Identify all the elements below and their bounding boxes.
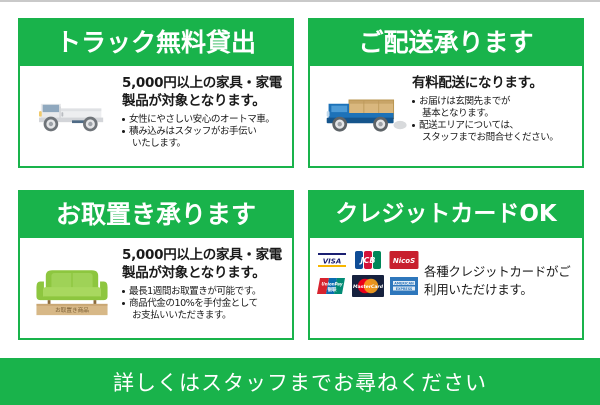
- banner-text: 詳しくはスタッフまでお尋ねください: [113, 367, 487, 397]
- panel-credit-card: クレジットカードOK VISA: [308, 190, 584, 340]
- panel-title: ご配送承ります: [358, 30, 533, 55]
- blue-cargo-truck-icon: [314, 71, 410, 139]
- svg-text:NicoS: NicoS: [393, 257, 415, 265]
- green-sofa-icon: お取置き商品: [24, 243, 120, 317]
- bullet-item: 積み込みはスタッフがお手伝い いたします。: [122, 126, 288, 149]
- panel-title: お取置き承ります: [56, 202, 256, 227]
- panel-layaway: お取置き承ります お取: [18, 190, 294, 340]
- panel-title: クレジットカードOK: [335, 203, 556, 226]
- card-logo-grid: VISA JCB: [316, 249, 420, 297]
- svg-text:EXPRESS: EXPRESS: [396, 287, 413, 291]
- panel-text-credit-card: 各種クレジットカードがご利用いただけます。: [422, 243, 578, 299]
- panel-text-truck-rental: 5,000円以上の家具・家電製品が対象となります。 女性にやさしい安心のオートマ…: [120, 71, 288, 150]
- unionpay-logo: UnionPay 银联: [316, 275, 348, 297]
- panel-text-layaway: 5,000円以上の家具・家電製品が対象となります。 最長1週間お取置きが可能です…: [120, 243, 288, 322]
- panel-lead: 有料配送になります。: [412, 75, 578, 93]
- svg-text:AMERICAN: AMERICAN: [394, 281, 414, 285]
- panel-body-truck-rental: 5,000円以上の家具・家電製品が対象となります。 女性にやさしい安心のオートマ…: [18, 66, 294, 168]
- jcb-logo: JCB: [352, 249, 384, 271]
- mastercard-logo: MasterCard: [352, 275, 384, 297]
- bullet-item: 配送エリアについては、 スタッフまでお問合せください。: [412, 120, 578, 143]
- svg-text:VISA: VISA: [323, 258, 341, 266]
- bullet-item: 最長1週間お取置きが可能です。: [122, 286, 288, 298]
- panel-bullets: 最長1週間お取置きが可能です。 商品代金の10%を手付金として お支払いいただき…: [122, 286, 288, 322]
- panel-delivery: ご配送承ります: [308, 18, 584, 168]
- bullet-item: 商品代金の10%を手付金として お支払いいただきます。: [122, 298, 288, 321]
- panel-title: トラック無料貸出: [56, 30, 256, 55]
- svg-text:MasterCard: MasterCard: [353, 284, 384, 290]
- svg-text:JCB: JCB: [359, 256, 376, 265]
- panel-header-delivery: ご配送承ります: [308, 18, 584, 66]
- panel-lead: 5,000円以上の家具・家電製品が対象となります。: [122, 247, 288, 283]
- svg-text:UnionPay: UnionPay: [322, 282, 343, 287]
- visa-logo: VISA: [316, 249, 348, 271]
- credit-card-logos: VISA JCB: [314, 243, 422, 297]
- panel-bullets: お届けは玄関先までが 基本となります。 配送エリアについては、 スタッフまでお問…: [412, 96, 578, 144]
- panel-text-delivery: 有料配送になります。 お届けは玄関先までが 基本となります。 配送エリアについて…: [410, 71, 578, 144]
- promo-poster: トラック無料貸出: [0, 0, 600, 405]
- panel-body-credit-card: VISA JCB: [308, 238, 584, 340]
- panel-header-layaway: お取置き承ります: [18, 190, 294, 238]
- panel-header-credit-card: クレジットカードOK: [308, 190, 584, 238]
- panel-header-truck-rental: トラック無料貸出: [18, 18, 294, 66]
- panel-lead: 5,000円以上の家具・家電製品が対象となります。: [122, 75, 288, 111]
- panel-body-layaway: お取置き商品 5,000円以上の家具・家電製品が対象となります。 最長1週間お取…: [18, 238, 294, 340]
- bullet-item: 女性にやさしい安心のオートマ車。: [122, 114, 288, 126]
- panel-truck-rental: トラック無料貸出: [18, 18, 294, 168]
- panel-grid: トラック無料貸出: [0, 0, 600, 358]
- bullet-item: お届けは玄関先までが 基本となります。: [412, 96, 578, 119]
- panel-note: 各種クレジットカードがご利用いただけます。: [424, 247, 578, 299]
- amex-logo: AMERICAN EXPRESS: [388, 275, 420, 297]
- svg-text:お取置き商品: お取置き商品: [55, 306, 89, 314]
- panel-bullets: 女性にやさしい安心のオートマ車。 積み込みはスタッフがお手伝い いたします。: [122, 114, 288, 150]
- svg-text:银联: 银联: [328, 286, 337, 293]
- nicos-logo: NicoS: [388, 249, 420, 271]
- white-kei-truck-icon: [24, 71, 120, 139]
- bottom-banner: 詳しくはスタッフまでお尋ねください: [0, 358, 600, 405]
- panel-body-delivery: 有料配送になります。 お届けは玄関先までが 基本となります。 配送エリアについて…: [308, 66, 584, 168]
